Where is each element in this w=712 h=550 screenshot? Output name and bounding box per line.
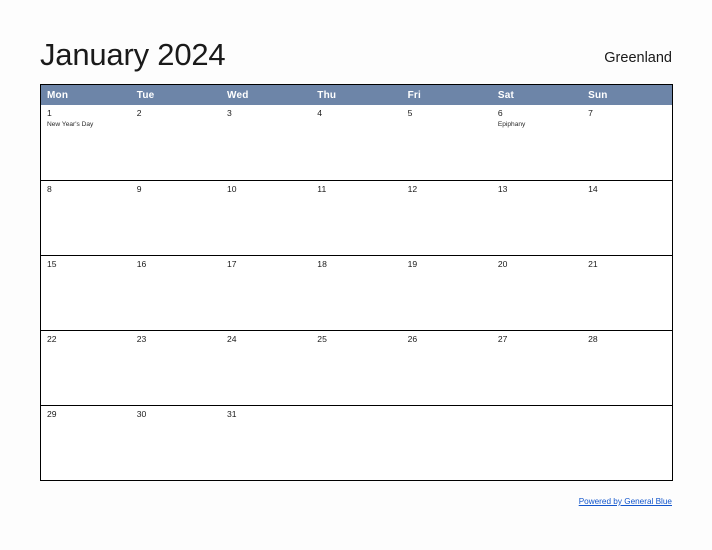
day-cell[interactable]: 10 [221, 180, 311, 255]
day-cell[interactable]: 11 [311, 180, 401, 255]
week-row: 22 23 24 25 26 [41, 330, 673, 405]
day-number: 25 [317, 334, 397, 345]
day-number: 1 [47, 108, 127, 119]
day-cell[interactable]: 15 [41, 255, 131, 330]
region-label: Greenland [604, 49, 672, 72]
day-cell[interactable]: 14 [582, 180, 672, 255]
day-cell[interactable]: 13 [492, 180, 582, 255]
day-cell[interactable]: 1 New Year's Day [41, 105, 131, 180]
weekday-header-mon: Mon [41, 85, 131, 106]
day-cell[interactable]: 25 [311, 330, 401, 405]
weekday-header-sun: Sun [582, 85, 672, 106]
day-number: 11 [317, 184, 397, 195]
day-number: 24 [227, 334, 307, 345]
day-cell[interactable]: 16 [131, 255, 221, 330]
day-cell-empty [402, 405, 492, 480]
weekday-header-fri: Fri [402, 85, 492, 106]
weekday-header-wed: Wed [221, 85, 311, 106]
day-number: 5 [408, 108, 488, 119]
day-number: 12 [408, 184, 488, 195]
week-row: 8 9 10 11 12 [41, 180, 673, 255]
day-cell[interactable]: 17 [221, 255, 311, 330]
day-number: 13 [498, 184, 578, 195]
day-cell[interactable]: 18 [311, 255, 401, 330]
day-cell[interactable]: 30 [131, 405, 221, 480]
day-number: 14 [588, 184, 668, 195]
day-number: 22 [47, 334, 127, 345]
day-number: 21 [588, 259, 668, 270]
day-cell[interactable]: 28 [582, 330, 672, 405]
day-cell[interactable]: 9 [131, 180, 221, 255]
day-cell[interactable]: 26 [402, 330, 492, 405]
day-cell[interactable]: 8 [41, 180, 131, 255]
week-row: 29 30 31 [41, 405, 673, 480]
day-number: 19 [408, 259, 488, 270]
day-number: 18 [317, 259, 397, 270]
day-number: 20 [498, 259, 578, 270]
day-cell[interactable]: 27 [492, 330, 582, 405]
day-cell[interactable]: 7 [582, 105, 672, 180]
day-cell[interactable]: 2 [131, 105, 221, 180]
day-number: 30 [137, 409, 217, 420]
day-number: 3 [227, 108, 307, 119]
weekday-header-sat: Sat [492, 85, 582, 106]
day-number: 7 [588, 108, 668, 119]
day-cell-empty [311, 405, 401, 480]
day-number: 31 [227, 409, 307, 420]
day-cell[interactable]: 31 [221, 405, 311, 480]
calendar-grid: Mon Tue Wed Thu Fri Sat Sun 1 New Year's… [40, 84, 673, 481]
day-number: 4 [317, 108, 397, 119]
day-cell-empty [492, 405, 582, 480]
document-header: January 2024 Greenland [40, 24, 672, 72]
day-event: Epiphany [498, 120, 578, 130]
day-number: 29 [47, 409, 127, 420]
day-cell[interactable]: 6 Epiphany [492, 105, 582, 180]
day-cell[interactable]: 21 [582, 255, 672, 330]
day-number: 6 [498, 108, 578, 119]
day-number: 28 [588, 334, 668, 345]
day-number: 27 [498, 334, 578, 345]
day-number: 9 [137, 184, 217, 195]
powered-by-link[interactable]: Powered by General Blue [579, 497, 672, 506]
calendar-page: January 2024 Greenland Mon Tue Wed Thu F… [0, 0, 712, 550]
day-cell[interactable]: 4 [311, 105, 401, 180]
day-cell[interactable]: 29 [41, 405, 131, 480]
day-cell[interactable]: 24 [221, 330, 311, 405]
day-cell[interactable]: 5 [402, 105, 492, 180]
day-cell[interactable]: 12 [402, 180, 492, 255]
week-row: 1 New Year's Day 2 3 4 5 [41, 105, 673, 180]
day-number: 15 [47, 259, 127, 270]
day-number: 26 [408, 334, 488, 345]
weekday-header-tue: Tue [131, 85, 221, 106]
page-footer: Powered by General Blue [40, 491, 672, 509]
day-number: 2 [137, 108, 217, 119]
day-cell[interactable]: 23 [131, 330, 221, 405]
weekday-header-row: Mon Tue Wed Thu Fri Sat Sun [41, 85, 673, 106]
week-row: 15 16 17 18 19 [41, 255, 673, 330]
weekday-header-thu: Thu [311, 85, 401, 106]
day-number: 16 [137, 259, 217, 270]
page-title: January 2024 [40, 38, 225, 72]
day-event: New Year's Day [47, 120, 127, 130]
day-cell[interactable]: 20 [492, 255, 582, 330]
day-cell[interactable]: 3 [221, 105, 311, 180]
day-number: 10 [227, 184, 307, 195]
day-number: 23 [137, 334, 217, 345]
day-number: 8 [47, 184, 127, 195]
day-number: 17 [227, 259, 307, 270]
day-cell-empty [582, 405, 672, 480]
day-cell[interactable]: 19 [402, 255, 492, 330]
day-cell[interactable]: 22 [41, 330, 131, 405]
